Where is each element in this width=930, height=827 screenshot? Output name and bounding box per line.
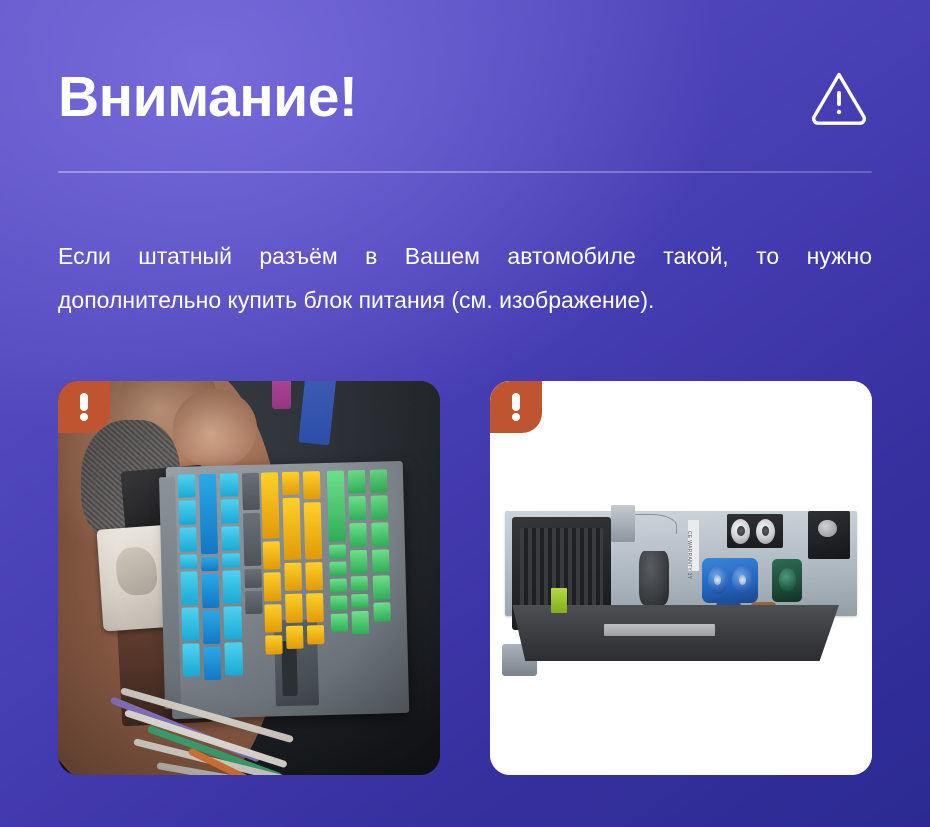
exclamation-badge-icon [58,381,110,433]
header-divider [58,171,872,173]
unit-metal-clip [611,505,636,542]
warning-message-line-2: дополнительно купить блок питания (см. и… [58,278,872,322]
unit-front-face [512,605,839,662]
warning-triangle-icon [810,69,868,125]
unit-side-label: CE WARRANTY 1Y [686,531,692,579]
exclamation-badge-icon [490,381,542,433]
page-title: Внимание! [58,69,357,126]
card-power-supply[interactable]: CE WARRANTY 1Y [490,381,872,775]
unit-fakra-blue [702,558,758,603]
warning-message: Если штатный разъём в Вашем автомобиле т… [58,234,872,322]
unit-round-knob [639,551,669,605]
unit-rca-block [727,514,783,548]
photo-power-supply: CE WARRANTY 1Y [490,381,872,775]
card-car-connector[interactable] [58,381,440,775]
photo-car-connector [58,381,440,775]
image-card-row: CE WARRANTY 1Y [58,381,872,775]
power-supply-unit: CE WARRANTY 1Y [505,511,856,653]
photo-vignette [58,381,440,775]
warning-page: Внимание! Если штатный разъём в Вашем ав… [0,0,930,827]
unit-mount-bracket [808,511,850,559]
page-header: Внимание! [58,52,872,142]
warning-message-line-1: Если штатный разъём в Вашем автомобиле т… [58,234,872,278]
unit-green-fuse [551,588,567,614]
unit-fakra-green [772,559,802,602]
